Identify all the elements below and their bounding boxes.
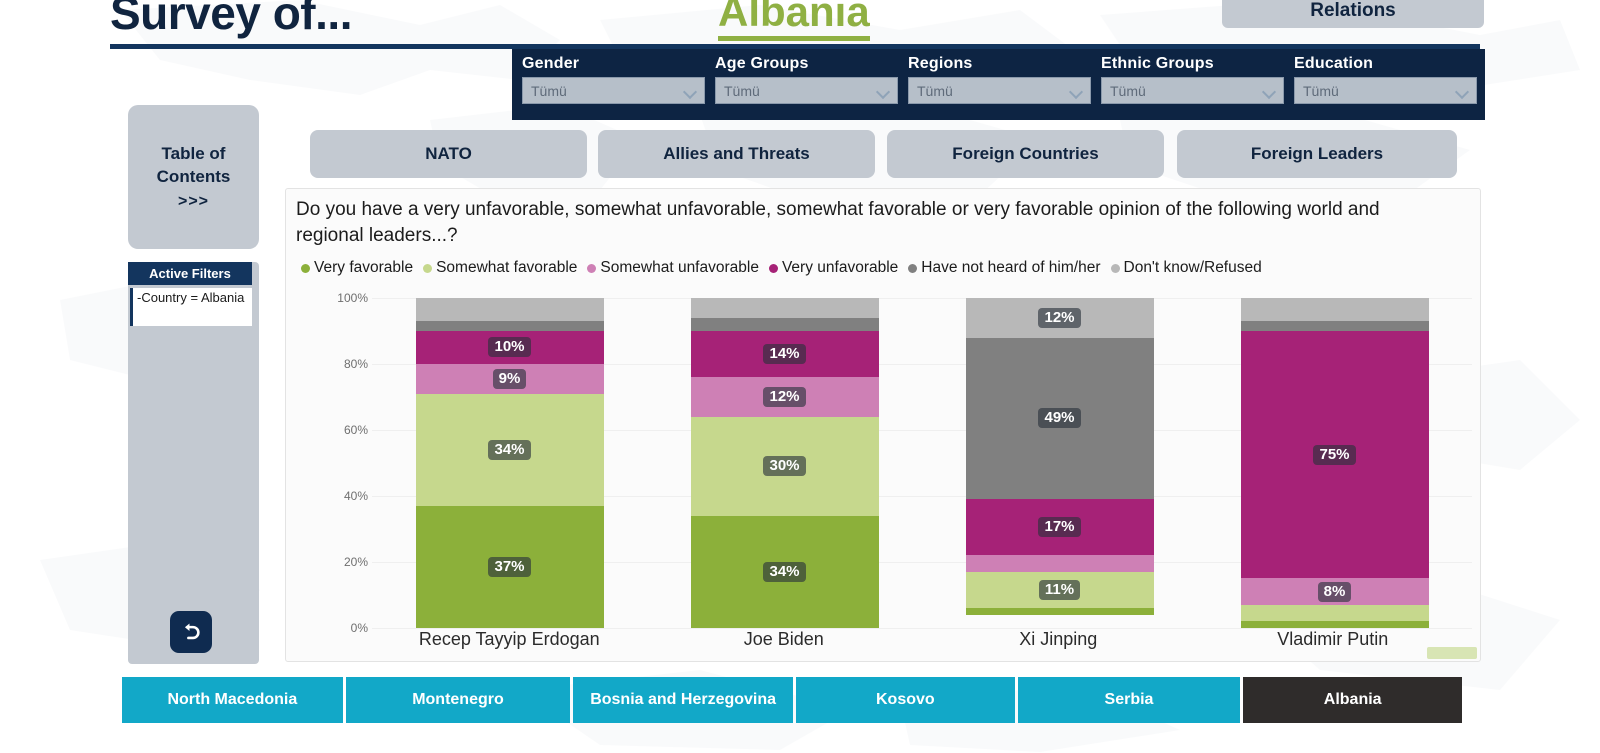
active-filters-panel: Active Filters -Country = Albania: [128, 262, 259, 664]
filter-bar: Gender Tümü Age Groups Tümü Regions Tümü…: [512, 49, 1485, 120]
bar-segment[interactable]: [416, 321, 604, 331]
toc-line-1: Table of: [162, 142, 226, 165]
tab-nato-label: NATO: [425, 144, 472, 164]
bar-segment[interactable]: 12%: [691, 377, 879, 417]
dashboard-root: Survey of... Albania Relations Gender Tü…: [0, 0, 1600, 753]
bar-segment[interactable]: [1241, 605, 1429, 622]
selected-country-title: Albania: [718, 0, 870, 41]
bar-segment[interactable]: 37%: [416, 506, 604, 628]
tab-foreign-leaders[interactable]: Foreign Leaders: [1177, 130, 1457, 178]
bar-segment-label: 49%: [1038, 408, 1080, 428]
bar-segment[interactable]: 12%: [966, 298, 1154, 338]
country-tab-albania[interactable]: Albania: [1243, 677, 1462, 723]
tab-allies-and-threats-label: Allies and Threats: [663, 144, 809, 164]
filter-gender-label: Gender: [522, 55, 705, 73]
country-tab-label: North Macedonia: [167, 691, 297, 709]
country-tab-kosovo[interactable]: Kosovo: [796, 677, 1015, 723]
toc-line-2: Contents: [157, 165, 231, 188]
bar-segment[interactable]: [416, 298, 604, 321]
active-filters-title: Active Filters: [128, 262, 252, 285]
country-tab-label: Serbia: [1105, 691, 1154, 709]
legend-item-label: Don't know/Refused: [1124, 259, 1262, 277]
filter-regions-value: Tümü: [917, 83, 953, 99]
legend-swatch-icon: [301, 264, 310, 273]
tab-nato[interactable]: NATO: [310, 130, 587, 178]
legend-swatch-icon: [1111, 264, 1120, 273]
bar-segment[interactable]: 14%: [691, 331, 879, 377]
country-tab-label: Montenegro: [412, 691, 504, 709]
country-tab-north-macedonia[interactable]: North Macedonia: [122, 677, 343, 723]
chevron-down-icon: [685, 87, 696, 94]
bar-column: 10%9%34%37%: [372, 292, 647, 628]
legend-item[interactable]: Have not heard of him/her: [908, 259, 1100, 277]
bar-segment[interactable]: 34%: [691, 516, 879, 628]
legend-item[interactable]: Very unfavorable: [769, 259, 898, 277]
bar-segment[interactable]: [691, 318, 879, 331]
bar-segment[interactable]: [1241, 298, 1429, 321]
y-axis-tick: 80%: [344, 357, 368, 371]
y-axis-tick: 0%: [351, 621, 368, 635]
filter-ethnic-groups: Ethnic Groups Tümü: [1101, 55, 1284, 104]
stacked-bar[interactable]: 10%9%34%37%: [416, 298, 604, 628]
filter-regions: Regions Tümü: [908, 55, 1091, 104]
bar-segment-label: 12%: [763, 387, 805, 407]
legend-item[interactable]: Very favorable: [301, 259, 413, 277]
bar-segment[interactable]: [966, 555, 1154, 572]
chevron-down-icon: [1071, 87, 1082, 94]
filter-ethnic-groups-label: Ethnic Groups: [1101, 55, 1284, 73]
bar-segment-label: 10%: [488, 337, 530, 357]
legend-swatch-icon: [423, 264, 432, 273]
legend-item-label: Somewhat favorable: [436, 259, 577, 277]
filter-education: Education Tümü: [1294, 55, 1477, 104]
filter-age-groups-select[interactable]: Tümü: [715, 77, 898, 104]
bar-segment-label: 30%: [763, 456, 805, 476]
country-tab-montenegro[interactable]: Montenegro: [346, 677, 571, 723]
y-axis-tick-labels: 0%20%40%60%80%100%: [332, 292, 368, 628]
x-axis-label: Joe Biden: [647, 629, 922, 650]
bar-segment-label: 9%: [493, 369, 527, 389]
filter-gender: Gender Tümü: [522, 55, 705, 104]
tab-allies-and-threats[interactable]: Allies and Threats: [598, 130, 875, 178]
country-tab-label: Bosnia and Herzegovina: [590, 691, 776, 709]
legend-item-label: Somewhat unfavorable: [600, 259, 759, 277]
stacked-bar[interactable]: 14%12%30%34%: [691, 298, 879, 628]
legend-item-label: Very favorable: [314, 259, 413, 277]
legend-item[interactable]: Somewhat favorable: [423, 259, 577, 277]
bar-segment-label: 75%: [1313, 445, 1355, 465]
chart-question-text: Do you have a very unfavorable, somewhat…: [296, 197, 1416, 249]
country-tab-bar: North MacedoniaMontenegroBosnia and Herz…: [122, 677, 1462, 723]
chart-scroll-handle[interactable]: [1427, 647, 1477, 659]
chart-card: Do you have a very unfavorable, somewhat…: [285, 188, 1481, 662]
chart-plot-area: 0%20%40%60%80%100% 10%9%34%37%14%12%30%3…: [332, 292, 1472, 628]
legend-item-label: Very unfavorable: [782, 259, 898, 277]
active-filters-value: -Country = Albania: [130, 288, 252, 326]
bar-segment[interactable]: [966, 608, 1154, 615]
filter-gender-value: Tümü: [531, 83, 567, 99]
tab-relations-label: Relations: [1310, 0, 1396, 22]
bar-segment[interactable]: 75%: [1241, 331, 1429, 579]
bar-segment[interactable]: 10%: [416, 331, 604, 364]
tab-relations[interactable]: Relations: [1222, 0, 1484, 28]
x-axis-label: Xi Jinping: [921, 629, 1196, 650]
bar-segment-label: 12%: [1038, 308, 1080, 328]
y-axis-tick: 20%: [344, 555, 368, 569]
filter-regions-label: Regions: [908, 55, 1091, 73]
bar-segment[interactable]: 9%: [416, 364, 604, 394]
tab-foreign-leaders-label: Foreign Leaders: [1251, 144, 1383, 164]
chevron-down-icon: [878, 87, 889, 94]
undo-arrow-icon: [178, 619, 204, 645]
bar-segment-label: 37%: [488, 557, 530, 577]
legend-swatch-icon: [587, 264, 596, 273]
country-tab-label: Albania: [1324, 691, 1382, 709]
page-title: Survey of...: [110, 0, 352, 40]
bar-segment-label: 14%: [763, 344, 805, 364]
filter-education-label: Education: [1294, 55, 1477, 73]
filter-education-value: Tümü: [1303, 83, 1339, 99]
filter-education-select[interactable]: Tümü: [1294, 77, 1477, 104]
x-axis-category-labels: Recep Tayyip ErdoganJoe BidenXi JinpingV…: [372, 629, 1470, 650]
country-tab-label: Kosovo: [876, 691, 935, 709]
bar-segment[interactable]: [1241, 621, 1429, 628]
bar-column: 75%8%: [1197, 292, 1472, 628]
bar-segment-label: 34%: [488, 440, 530, 460]
bar-segment-label: 11%: [1039, 580, 1080, 600]
tab-foreign-countries[interactable]: Foreign Countries: [887, 130, 1164, 178]
filter-gender-select[interactable]: Tümü: [522, 77, 705, 104]
filter-age-groups-label: Age Groups: [715, 55, 898, 73]
stacked-bar[interactable]: 12%49%17%11%: [966, 298, 1154, 628]
legend-item[interactable]: Don't know/Refused: [1111, 259, 1262, 277]
filter-age-groups-value: Tümü: [724, 83, 760, 99]
reset-filters-button[interactable]: [170, 611, 212, 653]
bar-column: 12%49%17%11%: [922, 292, 1197, 628]
bar-segment-label: 8%: [1318, 582, 1352, 602]
bar-segment-label: 17%: [1038, 517, 1080, 537]
filter-regions-select[interactable]: Tümü: [908, 77, 1091, 104]
country-tab-bosnia-and-herzegovina[interactable]: Bosnia and Herzegovina: [573, 677, 793, 723]
y-axis-tick: 60%: [344, 423, 368, 437]
stacked-bars-container: 10%9%34%37%14%12%30%34%12%49%17%11%75%8%: [372, 292, 1472, 628]
legend-item[interactable]: Somewhat unfavorable: [587, 259, 759, 277]
bar-segment[interactable]: 49%: [966, 338, 1154, 500]
filter-ethnic-groups-value: Tümü: [1110, 83, 1146, 99]
country-tab-serbia[interactable]: Serbia: [1018, 677, 1241, 723]
x-axis-label: Recep Tayyip Erdogan: [372, 629, 647, 650]
chevron-down-icon: [1264, 87, 1275, 94]
y-axis-tick: 100%: [337, 291, 368, 305]
chart-legend: Very favorableSomewhat favorableSomewhat…: [301, 259, 1270, 277]
bar-segment[interactable]: 11%: [966, 572, 1154, 608]
bar-segment[interactable]: 30%: [691, 417, 879, 516]
stacked-bar[interactable]: 75%8%: [1241, 298, 1429, 628]
bar-column: 14%12%30%34%: [647, 292, 922, 628]
legend-swatch-icon: [769, 264, 778, 273]
chevron-down-icon: [1457, 87, 1468, 94]
bar-segment[interactable]: 17%: [966, 499, 1154, 555]
bar-segment[interactable]: 8%: [1241, 578, 1429, 604]
bar-segment[interactable]: 34%: [416, 394, 604, 506]
bar-segment[interactable]: [691, 298, 879, 318]
tab-foreign-countries-label: Foreign Countries: [952, 144, 1098, 164]
filter-age-groups: Age Groups Tümü: [715, 55, 898, 104]
toc-arrows-icon: >>>: [178, 190, 209, 213]
filter-ethnic-groups-select[interactable]: Tümü: [1101, 77, 1284, 104]
table-of-contents-button[interactable]: Table of Contents >>>: [128, 105, 259, 249]
y-axis-tick: 40%: [344, 489, 368, 503]
legend-swatch-icon: [908, 264, 917, 273]
bar-segment-label: 34%: [763, 562, 805, 582]
legend-item-label: Have not heard of him/her: [921, 259, 1100, 277]
bar-segment[interactable]: [1241, 321, 1429, 331]
